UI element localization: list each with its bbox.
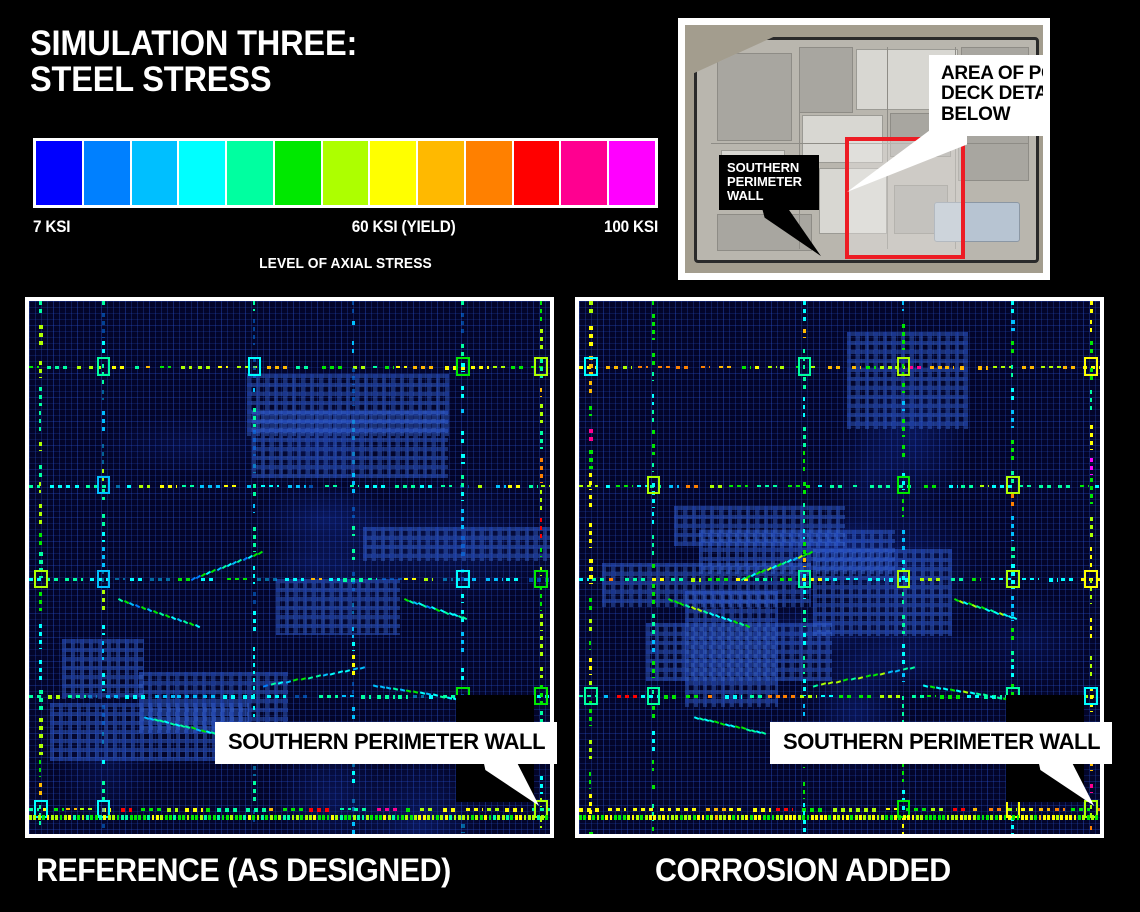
beam-stress-segment (806, 485, 813, 488)
column-stress-segment (352, 771, 355, 787)
perimeter-wall-segment (754, 815, 757, 820)
perimeter-wall-segment (658, 815, 661, 820)
beam-stress-segment (866, 366, 876, 369)
beam-stress-segment (606, 366, 619, 369)
column-stress-segment (803, 529, 805, 539)
perimeter-wall-segment (1078, 815, 1081, 820)
perimeter-wall-segment (532, 815, 535, 820)
column-stress-segment (102, 411, 105, 431)
perimeter-wall-segment (340, 815, 343, 820)
column-stress-segment (902, 401, 905, 411)
column-stress-segment (803, 427, 806, 446)
perimeter-wall-segment (418, 815, 421, 820)
joint-node (798, 570, 812, 588)
perimeter-wall-segment (982, 815, 985, 820)
column-stress-segment (540, 329, 543, 353)
perimeter-wall-segment (305, 815, 308, 820)
perimeter-wall-segment (348, 815, 351, 820)
column-stress-segment (589, 832, 592, 834)
column-stress-segment (652, 584, 655, 606)
perimeter-wall-segment (929, 815, 932, 820)
beam-stress-segment (637, 485, 646, 487)
beam-stress-segment (135, 366, 142, 369)
perimeter-wall-segment (510, 815, 513, 820)
column-stress-segment (39, 325, 42, 348)
column-stress-segment (902, 445, 905, 459)
inset-callout-pool-text: AREA OF POOL DECK DETAILED BELOW (941, 63, 1043, 125)
perimeter-wall-segment (405, 815, 408, 820)
beam-stress-segment (150, 578, 171, 581)
column-stress-segment (253, 301, 255, 311)
perimeter-wall-segment (156, 815, 159, 820)
beam-stress-segment (609, 578, 616, 581)
column-stress-segment (253, 781, 256, 801)
beam-stress-segment (160, 366, 172, 368)
beam-stress-segment (178, 578, 191, 581)
perimeter-wall-segment (86, 815, 89, 820)
perimeter-wall-segment (855, 815, 858, 820)
perimeter-wall-segment (1069, 815, 1072, 820)
beam-stress-segment (478, 485, 485, 488)
column-stress-segment (803, 656, 805, 674)
column-stress-segment (253, 566, 255, 584)
beam-stress-segment (1080, 485, 1089, 487)
column-stress-segment (803, 704, 805, 719)
perimeter-wall-segment (1004, 815, 1007, 820)
beam-stress-segment (638, 366, 649, 368)
column-stress-segment (589, 301, 592, 315)
column-stress-segment (803, 451, 805, 471)
beam-stress-segment (466, 808, 483, 811)
beam-stress-segment (1041, 366, 1061, 368)
beam-stress-segment (949, 485, 958, 488)
perimeter-wall-segment (1052, 815, 1055, 820)
beam-stress-segment (295, 695, 310, 698)
perimeter-wall-segment (583, 815, 586, 820)
perimeter-wall-segment (798, 815, 801, 820)
beam-stress-segment (496, 485, 506, 488)
perimeter-wall-segment (82, 815, 85, 820)
perimeter-wall-segment (344, 815, 347, 820)
beam-stress-segment (830, 485, 846, 488)
beam-stress-segment (625, 578, 646, 581)
perimeter-wall-segment (632, 815, 635, 820)
beam-stress-segment (406, 808, 413, 811)
column-stress-segment (461, 668, 464, 680)
beam-stress-segment (821, 695, 833, 697)
column-stress-segment (352, 389, 355, 406)
perimeter-wall-segment (121, 815, 124, 820)
joint-node (584, 357, 598, 375)
beam-stress-segment (927, 695, 937, 697)
perimeter-wall-segment (480, 815, 483, 820)
perimeter-wall-segment (29, 815, 32, 820)
perimeter-wall-segment (916, 815, 919, 820)
legend-swatch-9 (466, 141, 512, 205)
perimeter-wall-segment (427, 815, 430, 820)
beam-stress-segment (750, 695, 764, 698)
column-stress-segment (461, 594, 464, 603)
beam-stress-segment (329, 578, 340, 581)
joint-node (798, 357, 812, 375)
beam-stress-segment (1021, 808, 1037, 810)
column-stress-segment (1011, 516, 1014, 540)
perimeter-wall-segment (383, 815, 386, 820)
perimeter-wall-segment (710, 815, 713, 820)
perimeter-wall-segment (758, 815, 761, 820)
perimeter-wall-segment (95, 815, 98, 820)
column-stress-segment (39, 482, 41, 493)
perimeter-wall-segment (313, 815, 316, 820)
site-plan-inset: SOUTHERN PERIMETER WALL AREA OF POOL DEC… (678, 18, 1050, 280)
column-stress-segment (652, 430, 655, 438)
beam-stress-segment (181, 366, 192, 369)
beam-stress-segment (319, 695, 338, 698)
perimeter-wall-segment (292, 815, 295, 820)
beam-stress-segment (243, 695, 259, 698)
legend-swatch-10 (514, 141, 560, 205)
perimeter-wall-segment (178, 815, 181, 820)
perimeter-wall-segment (401, 815, 404, 820)
column-stress-segment (589, 641, 591, 650)
perimeter-wall-segment (588, 815, 591, 820)
legend-min-label: 7 KSI (33, 217, 70, 237)
site-plan-map: SOUTHERN PERIMETER WALL AREA OF POOL DEC… (685, 25, 1043, 273)
beam-stress-segment (288, 485, 307, 488)
title-line-2: STEEL STRESS (30, 62, 357, 98)
perimeter-wall-segment (173, 815, 176, 820)
column-stress-segment (540, 431, 543, 448)
column-stress-segment (652, 463, 655, 472)
perimeter-wall-segment (471, 815, 474, 820)
perimeter-wall-segment (898, 815, 901, 820)
column-stress-segment (902, 499, 904, 516)
column-stress-segment (461, 431, 463, 447)
column-stress-segment (102, 532, 105, 542)
beam-stress-segment (377, 695, 395, 698)
beam-stress-segment (660, 808, 671, 810)
legend-mid-label: 60 KSI (YIELD) (351, 217, 455, 237)
perimeter-wall-segment (706, 815, 709, 820)
perimeter-wall-segment (143, 815, 146, 820)
perimeter-wall-segment (925, 815, 928, 820)
column-stress-segment (902, 324, 905, 350)
beam-stress-segment (671, 578, 683, 581)
beam-stress-segment (177, 695, 199, 698)
column-stress-segment (589, 495, 591, 509)
perimeter-wall-segment (265, 815, 268, 820)
column-stress-segment (652, 535, 654, 556)
beam-stress-segment (930, 366, 943, 369)
perimeter-wall-segment (601, 815, 604, 820)
joint-node (97, 476, 111, 494)
simulation-panel-reference: SOUTHERN PERIMETER WALL (25, 297, 554, 838)
beam-stress-segment (676, 808, 698, 810)
perimeter-wall-segment (147, 815, 150, 820)
beam-stress-segment (285, 578, 304, 581)
column-stress-segment (253, 319, 255, 345)
perimeter-wall-segment (964, 815, 967, 820)
perimeter-wall-segment (213, 815, 216, 820)
beam-stress-segment (420, 485, 435, 488)
perimeter-wall-segment (719, 815, 722, 820)
beam-stress-segment (224, 485, 237, 487)
perimeter-wall-segment (537, 815, 540, 820)
joint-node (1084, 357, 1098, 375)
beam-stress-segment (385, 366, 394, 369)
beam-stress-segment (155, 695, 175, 698)
perimeter-wall-segment (55, 815, 58, 820)
column-stress-segment (589, 523, 592, 548)
perimeter-wall-segment (462, 815, 465, 820)
column-stress-segment (352, 301, 354, 315)
perimeter-wall-segment (999, 815, 1002, 820)
beam-stress-segment (658, 366, 670, 368)
perimeter-wall-segment (449, 815, 452, 820)
perimeter-wall-segment (519, 815, 522, 820)
column-stress-segment (352, 526, 354, 536)
beam-stress-segment (811, 366, 820, 368)
column-stress-segment (803, 633, 806, 647)
column-stress-segment (1090, 458, 1093, 475)
column-stress-segment (253, 647, 255, 674)
perimeter-wall-segment (278, 815, 281, 820)
beam-stress-segment (115, 578, 125, 580)
legend-swatch-5 (275, 141, 321, 205)
beam-stress-segment (972, 578, 981, 581)
column-stress-segment (589, 381, 591, 397)
perimeter-wall-segment (947, 815, 950, 820)
beam-stress-segment (283, 808, 303, 811)
perimeter-wall-segment (990, 815, 993, 820)
perimeter-wall-segment (772, 815, 775, 820)
perimeter-wall-segment (392, 815, 395, 820)
joint-node (34, 570, 48, 588)
beam-stress-segment (633, 808, 653, 811)
legend-swatch-11 (561, 141, 607, 205)
column-stress-segment (253, 464, 256, 473)
slab-rebar-dots (674, 506, 846, 546)
column-stress-segment (1011, 341, 1013, 357)
column-stress-segment (589, 658, 591, 675)
column-stress-segment (39, 301, 42, 314)
perimeter-wall-segment (200, 815, 203, 820)
perimeter-wall-segment (636, 815, 639, 820)
column-stress-segment (652, 731, 655, 752)
perimeter-wall-segment (117, 815, 120, 820)
perimeter-wall-segment (445, 815, 448, 820)
perimeter-wall-segment (614, 815, 617, 820)
column-stress-segment (1090, 301, 1093, 315)
beam-stress-segment (880, 366, 892, 369)
beam-stress-segment (742, 366, 752, 369)
perimeter-wall-segment (1008, 815, 1011, 820)
column-stress-segment (352, 321, 355, 328)
joint-node (97, 570, 111, 588)
column-stress-segment (461, 409, 463, 417)
perimeter-wall-segment (484, 815, 487, 820)
column-stress-segment (102, 625, 105, 635)
perimeter-wall-segment (649, 815, 652, 820)
beam-stress-segment (912, 695, 924, 698)
column-stress-segment (39, 465, 41, 478)
column-stress-segment (1011, 365, 1013, 379)
perimeter-wall-segment (1017, 815, 1020, 820)
column-stress-segment (589, 794, 592, 817)
perimeter-wall-segment (283, 815, 286, 820)
column-stress-segment (461, 475, 464, 489)
perimeter-wall-segment (995, 815, 998, 820)
beam-stress-segment (223, 695, 235, 698)
column-stress-segment (652, 640, 655, 653)
perimeter-wall-segment (1030, 815, 1033, 820)
perimeter-wall-segment (973, 815, 976, 820)
column-stress-segment (102, 301, 105, 309)
perimeter-wall-segment (169, 815, 172, 820)
perimeter-wall-segment (723, 815, 726, 820)
perimeter-wall-segment (187, 815, 190, 820)
column-stress-segment (589, 429, 592, 442)
perimeter-wall-segment (1095, 815, 1098, 820)
beam-stress-segment (973, 808, 980, 811)
column-stress-segment (102, 760, 105, 768)
beam-stress-segment (382, 578, 402, 580)
perimeter-wall-segment (653, 815, 656, 820)
perimeter-wall-segment (1091, 815, 1094, 820)
column-stress-segment (589, 598, 592, 611)
joint-node (584, 687, 598, 705)
beam-stress-segment (1022, 578, 1039, 580)
perimeter-wall-segment (680, 815, 683, 820)
perimeter-wall-segment (605, 815, 608, 820)
beam-stress-segment (768, 366, 777, 368)
column-stress-segment (652, 760, 654, 771)
perimeter-wall-segment (440, 815, 443, 820)
column-stress-segment (540, 458, 543, 484)
column-stress-segment (1090, 547, 1093, 568)
perimeter-wall-segment (493, 815, 496, 820)
perimeter-wall-segment (702, 815, 705, 820)
beam-stress-segment (701, 366, 711, 368)
beam-stress-segment (953, 808, 967, 811)
beam-stress-segment (269, 808, 276, 810)
perimeter-wall-segment (610, 815, 613, 820)
perimeter-wall-segment (467, 815, 470, 820)
beam-stress-segment (398, 695, 408, 698)
column-stress-segment (1011, 665, 1013, 679)
perimeter-wall-segment (1082, 815, 1085, 820)
column-stress-segment (902, 644, 905, 665)
column-stress-segment (461, 386, 463, 399)
beam-stress-segment (780, 578, 793, 581)
column-stress-segment (352, 452, 355, 465)
joint-node (534, 570, 548, 588)
legend-caption: LEVEL OF AXIAL STRESS (58, 255, 633, 272)
perimeter-wall-segment (811, 815, 814, 820)
beam-stress-segment (206, 808, 213, 811)
perimeter-wall-segment (789, 815, 792, 820)
column-stress-segment (1090, 784, 1093, 794)
beam-stress-segment (931, 808, 945, 811)
column-stress-segment (589, 772, 591, 788)
beam-stress-segment (261, 485, 279, 487)
beam-stress-segment (686, 485, 701, 488)
perimeter-wall-segment (38, 815, 41, 820)
beam-stress-segment (1061, 578, 1073, 581)
perimeter-wall-segment (675, 815, 678, 820)
column-stress-segment (39, 533, 42, 549)
beam-stress-segment (340, 808, 351, 810)
perimeter-wall-segment (287, 815, 290, 820)
panel-callout-text: SOUTHERN PERIMETER WALL (783, 729, 1100, 754)
perimeter-wall-segment (863, 815, 866, 820)
column-stress-segment (102, 313, 105, 338)
perimeter-wall-segment (327, 815, 330, 820)
column-stress-segment (352, 549, 355, 560)
perimeter-wall-segment (230, 815, 233, 820)
perimeter-wall-segment (1087, 815, 1090, 820)
page-title: SIMULATION THREE: STEEL STRESS (30, 26, 357, 98)
beam-stress-segment (404, 578, 417, 580)
perimeter-wall-segment (322, 815, 325, 820)
column-stress-segment (102, 390, 104, 401)
column-stress-segment (902, 696, 904, 722)
beam-stress-segment (800, 695, 816, 697)
column-stress-segment (652, 614, 655, 637)
beam-stress-segment (198, 366, 212, 369)
beam-stress-segment (1058, 485, 1071, 488)
perimeter-wall-segment (824, 815, 827, 820)
beam-stress-segment (755, 366, 763, 369)
column-stress-segment (540, 301, 543, 325)
beam-stress-segment (413, 366, 436, 369)
column-stress-segment (902, 673, 905, 682)
column-stress-segment (352, 420, 355, 442)
column-stress-segment (102, 341, 105, 357)
beam-stress-segment (606, 485, 613, 488)
perimeter-wall-segment (73, 815, 76, 820)
column-stress-segment (652, 661, 655, 678)
perimeter-wall-segment (423, 815, 426, 820)
beam-stress-segment (309, 485, 316, 488)
perimeter-wall-segment (125, 815, 128, 820)
panel-callout-southern-perimeter-wall: SOUTHERN PERIMETER WALL (770, 722, 1112, 764)
beam-stress-segment (130, 578, 146, 581)
perimeter-wall-segment (837, 815, 840, 820)
legend-swatch-7 (370, 141, 416, 205)
beam-stress-segment (325, 485, 342, 487)
column-stress-segment (102, 590, 105, 614)
perimeter-wall-segment (671, 815, 674, 820)
beam-stress-segment (182, 485, 197, 487)
perimeter-wall-segment (912, 815, 915, 820)
legend-swatch-6 (323, 141, 369, 205)
column-stress-segment (39, 690, 42, 714)
slab-rebar-dots (847, 332, 968, 429)
perimeter-wall-segment (820, 815, 823, 820)
beam-stress-segment (141, 808, 164, 810)
perimeter-wall-segment (1012, 815, 1015, 820)
perimeter-wall-segment (68, 815, 71, 820)
column-stress-segment (902, 419, 905, 437)
column-stress-segment (803, 377, 806, 389)
beam-stress-segment (160, 485, 177, 488)
perimeter-wall-segment (191, 815, 194, 820)
column-stress-segment (652, 314, 655, 340)
perimeter-wall-segment (640, 815, 643, 820)
perimeter-wall-segment (130, 815, 133, 820)
diagonal-stress-segment (440, 695, 445, 699)
